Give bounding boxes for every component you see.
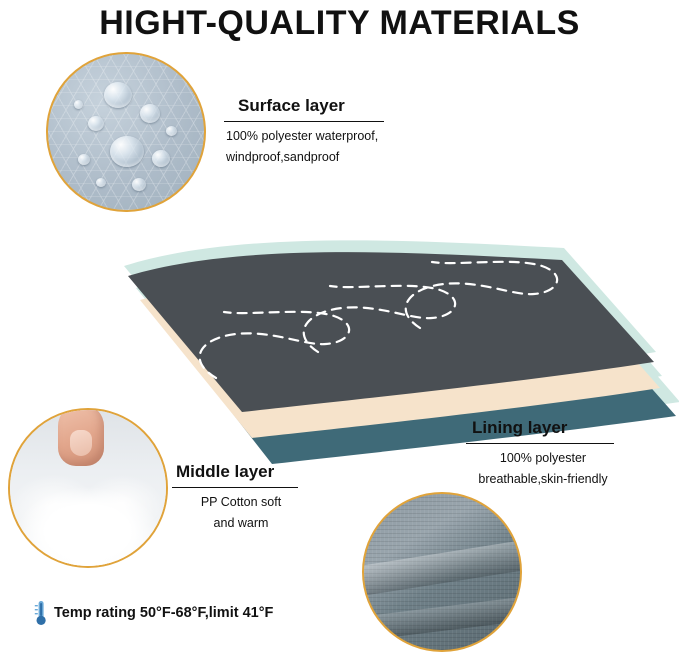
page-title: HIGHT-QUALITY MATERIALS <box>0 4 679 43</box>
callout-lining-divider <box>466 443 614 444</box>
callout-middle-divider <box>172 487 298 488</box>
temperature-rating-text: Temp rating 50°F-68°F,limit 41°F <box>54 605 273 621</box>
droplet-icon <box>140 104 160 123</box>
droplet-icon <box>132 178 146 191</box>
droplet-icon <box>166 126 177 136</box>
callout-surface-divider <box>224 121 384 122</box>
droplet-icon <box>104 82 132 108</box>
material-infographic: HIGHT-QUALITY MATERIALS <box>0 0 679 655</box>
callout-middle-line1: PP Cotton soft <box>180 492 302 513</box>
temperature-rating-row: Temp rating 50°F-68°F,limit 41°F <box>34 600 273 626</box>
droplet-icon <box>74 100 83 109</box>
hex-mesh-texture <box>48 54 204 210</box>
callout-middle-line2: and warm <box>180 513 302 534</box>
callout-middle-layer: Middle layer PP Cotton soft and warm <box>172 462 302 533</box>
callout-lining-line2: breathable,skin-friendly <box>468 469 618 490</box>
callout-surface-description: 100% polyester waterproof, windproof,san… <box>224 126 384 167</box>
white-pp-cotton-photo <box>8 408 168 568</box>
callout-middle-description: PP Cotton soft and warm <box>172 492 302 533</box>
droplet-icon <box>152 150 170 167</box>
callout-lining-layer: Lining layer 100% polyester breathable,s… <box>466 418 618 489</box>
water-droplets-on-fabric-photo <box>46 52 206 212</box>
callout-lining-description: 100% polyester breathable,skin-friendly <box>466 448 618 489</box>
callout-surface-line2: windproof,sandproof <box>226 147 384 168</box>
droplet-icon <box>78 154 90 165</box>
fingernail-icon <box>70 430 92 456</box>
callout-middle-heading: Middle layer <box>172 462 302 482</box>
callout-surface-layer: Surface layer 100% polyester waterproof,… <box>224 96 384 167</box>
droplet-icon <box>88 116 104 131</box>
droplet-icon <box>96 178 106 187</box>
callout-lining-line1: 100% polyester <box>468 448 618 469</box>
droplet-icon <box>110 136 144 167</box>
thermometer-icon <box>34 600 48 626</box>
callout-surface-heading: Surface layer <box>224 96 384 116</box>
callout-surface-line1: 100% polyester waterproof, <box>226 126 384 147</box>
callout-lining-heading: Lining layer <box>466 418 618 438</box>
teal-woven-fabric-photo <box>362 492 522 652</box>
